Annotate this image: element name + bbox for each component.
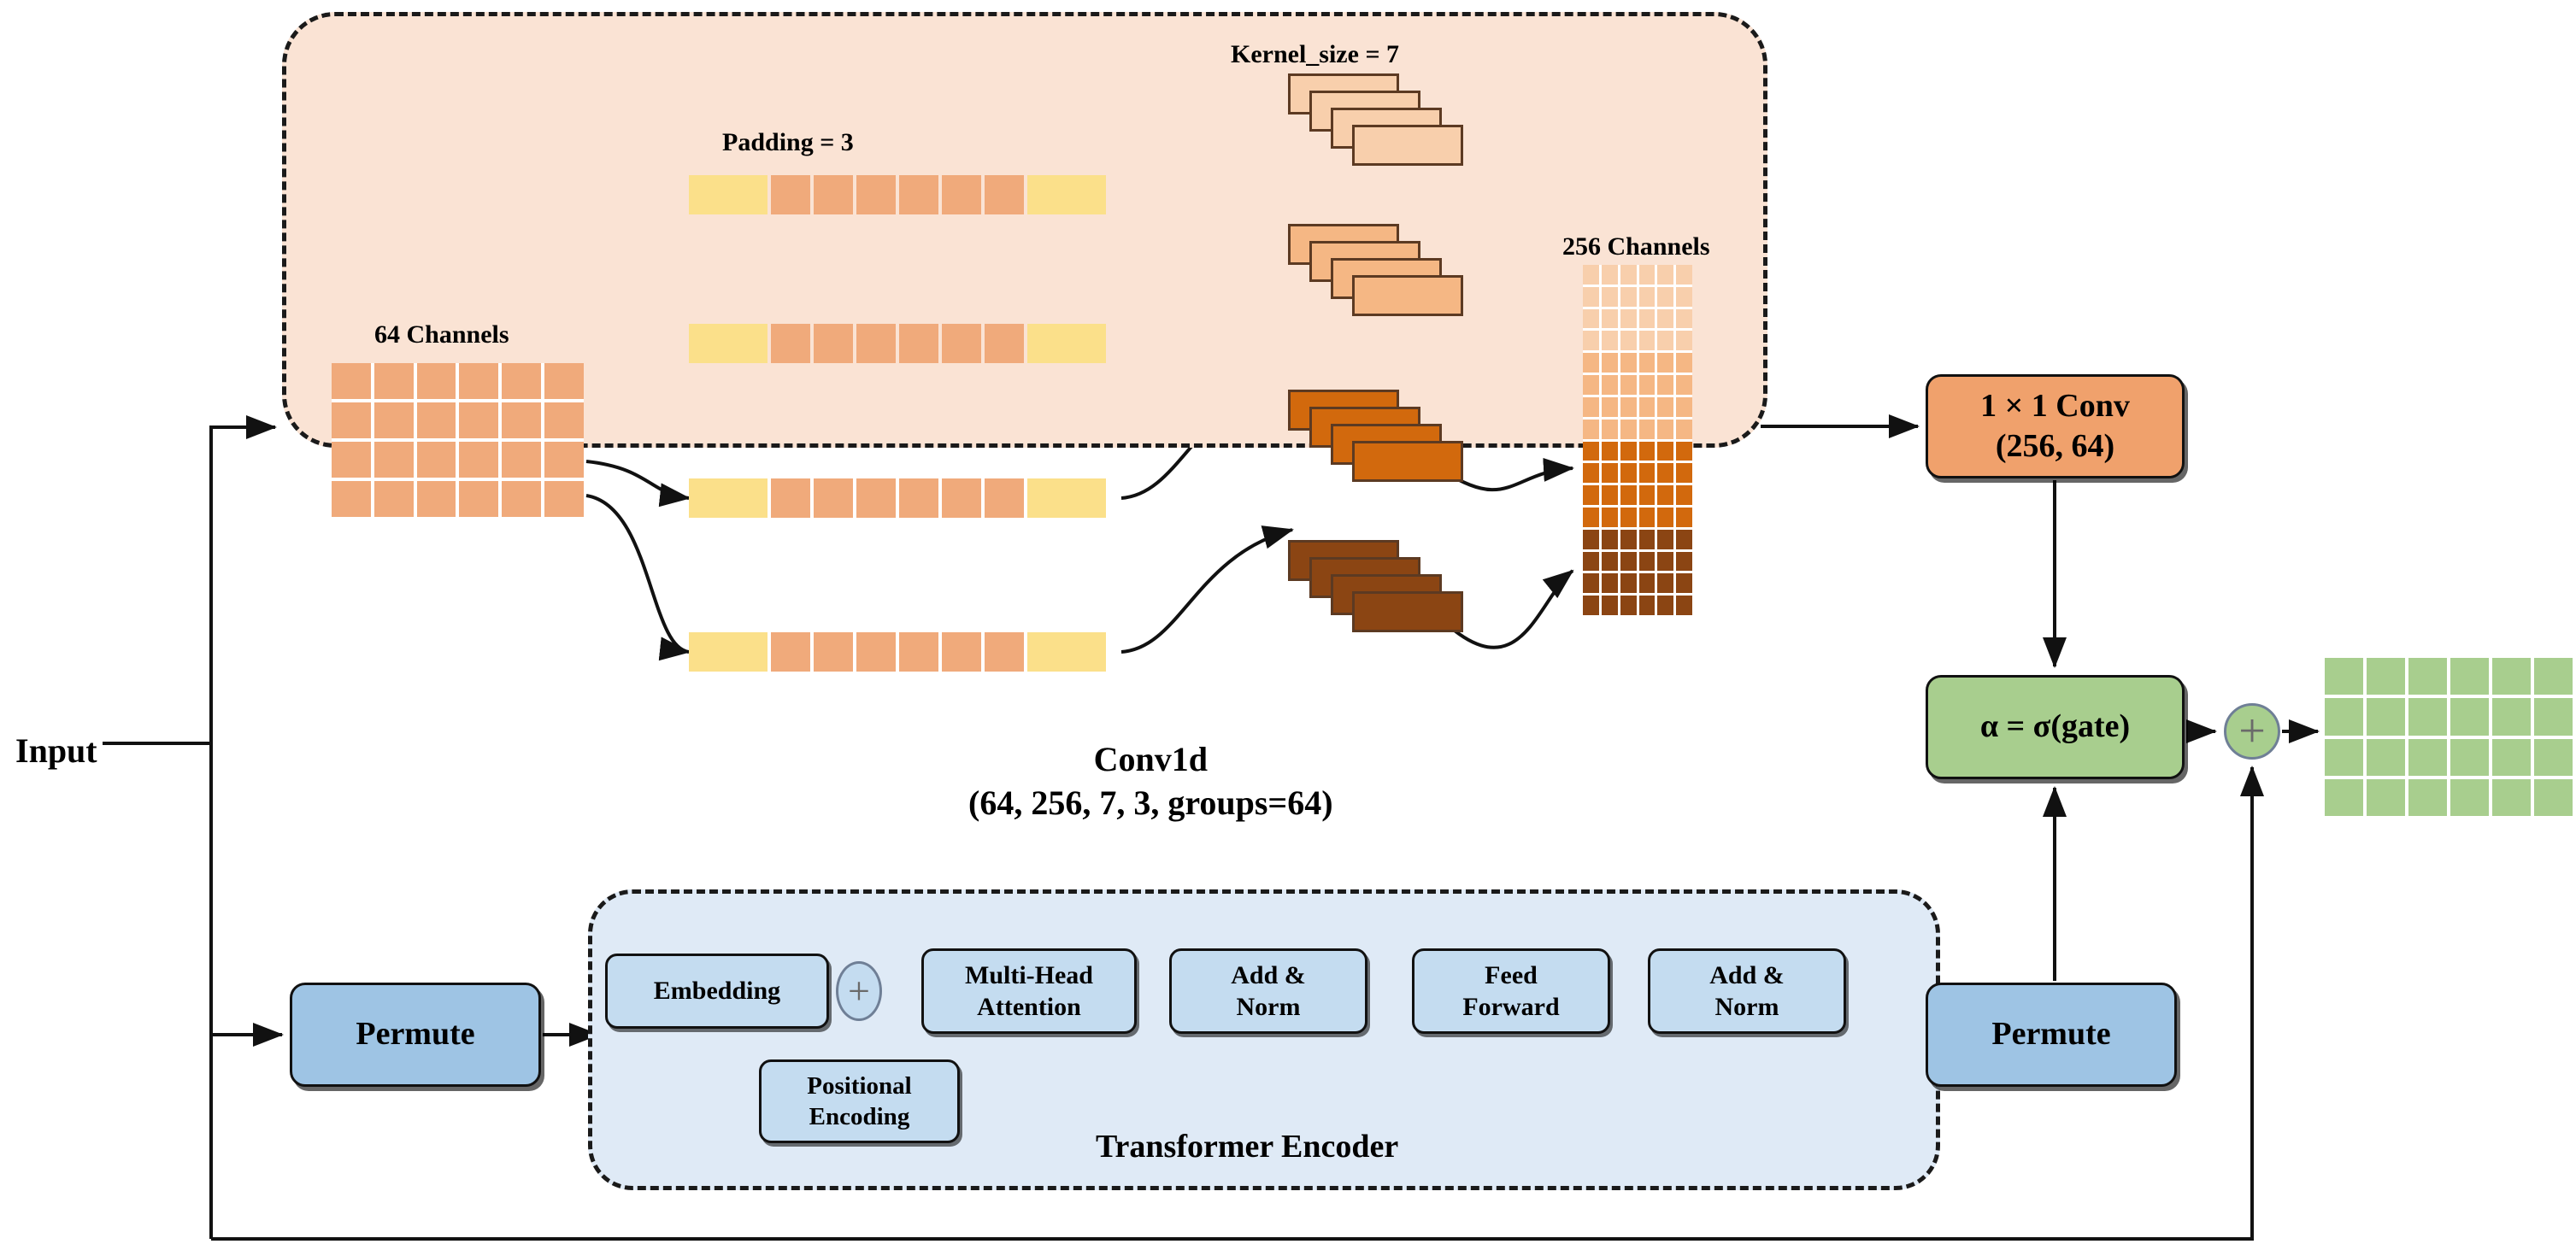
grid-cell: [1657, 463, 1673, 483]
feature-cell: [942, 632, 981, 672]
output-channels-label: 256 Channels: [1562, 232, 1710, 261]
grid-cell: [2325, 779, 2363, 816]
grid-cell: [1676, 442, 1692, 461]
feature-cell: [814, 175, 853, 214]
grid-cell: [332, 442, 371, 478]
kernel-plane: [1352, 441, 1463, 482]
grid-cell: [2534, 698, 2573, 735]
grid-cell: [1639, 287, 1656, 307]
grid-cell: [1639, 463, 1656, 483]
grid-cell: [1602, 420, 1618, 439]
grid-cell: [1583, 397, 1599, 417]
feed-forward-line2: Forward: [1462, 993, 1559, 1021]
grid-cell: [2408, 698, 2447, 735]
padding-cell: [689, 324, 768, 363]
add-norm-1-line1: Add &: [1231, 961, 1306, 989]
grid-cell: [1639, 309, 1656, 329]
padded-strip: [689, 632, 1106, 672]
add-norm-1-line2: Norm: [1237, 993, 1301, 1021]
add-norm-box-1[interactable]: Add & Norm: [1169, 948, 1367, 1034]
grid-cell: [2534, 658, 2573, 695]
kernel-stack: [1288, 540, 1450, 634]
mha-line1: Multi-Head: [965, 961, 1093, 989]
feature-cell: [856, 175, 896, 214]
grid-cell: [374, 363, 414, 399]
grid-cell: [1676, 596, 1692, 615]
wire-grid-to-strip-4: [586, 496, 689, 652]
grid-cell: [502, 363, 541, 399]
grid-cell: [1602, 442, 1618, 461]
grid-cell: [1657, 552, 1673, 572]
feature-cell: [985, 324, 1024, 363]
embedding-box[interactable]: Embedding: [605, 954, 829, 1029]
grid-cell: [417, 442, 456, 478]
grid-cell: [1602, 573, 1618, 593]
grid-cell: [1639, 552, 1656, 572]
feature-cell: [856, 324, 896, 363]
feature-cell: [899, 632, 938, 672]
grid-cell: [1657, 573, 1673, 593]
grid-cell: [1583, 573, 1599, 593]
grid-cell: [1620, 463, 1637, 483]
grid-cell: [2408, 739, 2447, 776]
grid-cell: [1602, 463, 1618, 483]
grid-cell: [1602, 331, 1618, 350]
grid-cell: [1620, 485, 1637, 505]
feature-cell: [814, 632, 853, 672]
grid-cell: [1657, 309, 1673, 329]
grid-cell: [1620, 353, 1637, 373]
grid-cell: [2492, 739, 2531, 776]
grid-cell: [1639, 397, 1656, 417]
grid-cell: [1657, 508, 1673, 527]
feature-cell: [771, 632, 810, 672]
grid-cell: [1657, 353, 1673, 373]
grid-cell: [1676, 573, 1692, 593]
gate-formula: α = σ(gate): [1980, 707, 2130, 748]
permute-in-box[interactable]: Permute: [290, 983, 541, 1087]
grid-cell: [1639, 485, 1656, 505]
grid-cell: [1639, 508, 1656, 527]
grid-cell: [502, 481, 541, 517]
grid-cell: [1676, 552, 1692, 572]
grid-cell: [2367, 658, 2405, 695]
feed-forward-box[interactable]: Feed Forward: [1412, 948, 1610, 1034]
padded-strip: [689, 324, 1106, 363]
grid-cell: [459, 442, 498, 478]
grid-cell: [459, 402, 498, 438]
output-feature-grid: [1583, 265, 1692, 615]
permute-in-label: Permute: [356, 1014, 474, 1055]
grid-cell: [1583, 552, 1599, 572]
grid-cell: [2367, 698, 2405, 735]
grid-cell: [2492, 779, 2531, 816]
grid-cell: [502, 402, 541, 438]
wire-kernel-to-256-4: [1444, 571, 1573, 648]
grid-cell: [1620, 552, 1637, 572]
wire-input-to-conv: [211, 427, 275, 743]
grid-cell: [1620, 265, 1637, 285]
conv1d-caption-line1: Conv1d: [968, 737, 1333, 781]
pointwise-conv-box[interactable]: 1 × 1 Conv (256, 64): [1926, 374, 2185, 478]
feature-cell: [771, 175, 810, 214]
kernel-plane: [1352, 591, 1463, 632]
wire-grid-to-strip-3: [586, 461, 689, 498]
grid-cell: [1602, 309, 1618, 329]
grid-cell: [1639, 331, 1656, 350]
grid-cell: [1602, 508, 1618, 527]
grid-cell: [2450, 658, 2489, 695]
grid-cell: [1657, 530, 1673, 549]
grid-cell: [1583, 442, 1599, 461]
grid-cell: [1657, 331, 1673, 350]
grid-cell: [2325, 698, 2363, 735]
padding-cell: [689, 632, 768, 672]
kernel-size-label: Kernel_size = 7: [1231, 40, 1399, 69]
grid-cell: [459, 363, 498, 399]
grid-cell: [459, 481, 498, 517]
kernel-stack: [1288, 224, 1450, 318]
grid-cell: [374, 481, 414, 517]
grid-cell: [1583, 485, 1599, 505]
grid-cell: [332, 363, 371, 399]
input-feature-grid: [332, 363, 584, 517]
grid-cell: [2492, 698, 2531, 735]
diagram-canvas: 64 Channels Padding = 3 Kernel_size = 7 …: [0, 0, 2576, 1250]
grid-cell: [1657, 287, 1673, 307]
kernel-plane: [1352, 275, 1463, 316]
grid-cell: [544, 363, 584, 399]
conv1d-caption-line2: (64, 256, 7, 3, groups=64): [968, 781, 1333, 825]
grid-cell: [1620, 442, 1637, 461]
grid-cell: [1657, 442, 1673, 461]
padding-label: Padding = 3: [722, 128, 854, 157]
grid-cell: [417, 402, 456, 438]
grid-cell: [1676, 331, 1692, 350]
grid-cell: [2408, 658, 2447, 695]
grid-cell: [2450, 739, 2489, 776]
grid-cell: [1620, 508, 1637, 527]
grid-cell: [2534, 779, 2573, 816]
grid-cell: [1639, 442, 1656, 461]
grid-cell: [1676, 485, 1692, 505]
mha-line2: Attention: [977, 993, 1081, 1021]
grid-cell: [2450, 779, 2489, 816]
pointwise-conv-line1: 1 × 1 Conv: [1980, 388, 2130, 424]
padded-strip: [689, 478, 1106, 518]
grid-cell: [1620, 375, 1637, 395]
padding-cell: [689, 175, 768, 214]
feature-cell: [985, 478, 1024, 518]
plus-icon: +: [848, 971, 870, 1011]
grid-cell: [1676, 265, 1692, 285]
padded-strip: [689, 175, 1106, 214]
grid-cell: [1620, 309, 1637, 329]
feature-cell: [814, 478, 853, 518]
grid-cell: [1602, 353, 1618, 373]
pointwise-conv-line2: (256, 64): [1996, 428, 2114, 464]
padding-cell: [689, 478, 768, 518]
residual-add-node: +: [2224, 703, 2280, 760]
add-norm-box-2[interactable]: Add & Norm: [1648, 948, 1846, 1034]
kernel-stack: [1288, 73, 1450, 167]
grid-cell: [1657, 375, 1673, 395]
grid-cell: [1657, 596, 1673, 615]
grid-cell: [1583, 530, 1599, 549]
feature-cell: [856, 632, 896, 672]
grid-cell: [374, 402, 414, 438]
grid-cell: [1620, 420, 1637, 439]
feature-cell: [942, 175, 981, 214]
feature-cell: [942, 478, 981, 518]
grid-cell: [1639, 420, 1656, 439]
grid-cell: [1602, 530, 1618, 549]
padding-cell: [1027, 324, 1106, 363]
grid-cell: [2408, 779, 2447, 816]
grid-cell: [1583, 420, 1599, 439]
permute-out-label: Permute: [1991, 1014, 2110, 1055]
grid-cell: [1620, 530, 1637, 549]
grid-cell: [1583, 375, 1599, 395]
grid-cell: [1639, 353, 1656, 373]
permute-out-box[interactable]: Permute: [1926, 983, 2177, 1087]
conv1d-caption: Conv1d (64, 256, 7, 3, groups=64): [968, 737, 1333, 825]
grid-cell: [1657, 420, 1673, 439]
input-channels-label: 64 Channels: [374, 320, 509, 349]
add-norm-2-line1: Add &: [1709, 961, 1785, 989]
grid-cell: [2367, 779, 2405, 816]
padding-cell: [1027, 175, 1106, 214]
grid-cell: [2450, 698, 2489, 735]
padding-cell: [1027, 632, 1106, 672]
grid-cell: [1676, 397, 1692, 417]
feature-cell: [985, 632, 1024, 672]
embedding-label: Embedding: [654, 975, 780, 1007]
feature-cell: [771, 478, 810, 518]
grid-cell: [1676, 420, 1692, 439]
grid-cell: [1620, 573, 1637, 593]
grid-cell: [1583, 287, 1599, 307]
positional-encoding-line2: Encoding: [809, 1103, 910, 1130]
grid-cell: [1639, 573, 1656, 593]
grid-cell: [1676, 508, 1692, 527]
grid-cell: [332, 402, 371, 438]
grid-cell: [544, 481, 584, 517]
feature-cell: [899, 324, 938, 363]
grid-cell: [1639, 265, 1656, 285]
grid-cell: [1676, 309, 1692, 329]
grid-cell: [1602, 375, 1618, 395]
grid-cell: [1583, 331, 1599, 350]
grid-cell: [1676, 530, 1692, 549]
grid-cell: [1602, 552, 1618, 572]
grid-cell: [2534, 739, 2573, 776]
wire-strip-to-kernel-4: [1121, 530, 1292, 652]
grid-cell: [1583, 596, 1599, 615]
grid-cell: [1639, 596, 1656, 615]
grid-cell: [1583, 309, 1599, 329]
add-norm-2-line2: Norm: [1715, 993, 1779, 1021]
grid-cell: [1602, 397, 1618, 417]
grid-cell: [417, 363, 456, 399]
feature-cell: [985, 175, 1024, 214]
grid-cell: [544, 402, 584, 438]
grid-cell: [1583, 353, 1599, 373]
kernel-stack: [1288, 390, 1450, 484]
grid-cell: [1676, 375, 1692, 395]
grid-cell: [2325, 739, 2363, 776]
feature-cell: [856, 478, 896, 518]
positional-encoding-line1: Positional: [807, 1072, 911, 1100]
grid-cell: [1583, 508, 1599, 527]
grid-cell: [1620, 331, 1637, 350]
grid-cell: [374, 442, 414, 478]
grid-cell: [2367, 739, 2405, 776]
grid-cell: [1657, 265, 1673, 285]
feature-cell: [942, 324, 981, 363]
grid-cell: [1620, 287, 1637, 307]
grid-cell: [2325, 658, 2363, 695]
positional-add-node: +: [836, 961, 882, 1021]
gate-box[interactable]: α = σ(gate): [1926, 675, 2185, 779]
grid-cell: [1657, 397, 1673, 417]
grid-cell: [1639, 375, 1656, 395]
grid-cell: [1676, 353, 1692, 373]
transformer-encoder-caption: Transformer Encoder: [1096, 1128, 1398, 1165]
grid-cell: [1583, 265, 1599, 285]
grid-cell: [1583, 463, 1599, 483]
feature-cell: [814, 324, 853, 363]
grid-cell: [502, 442, 541, 478]
padding-cell: [1027, 478, 1106, 518]
plus-icon: +: [2238, 707, 2266, 755]
grid-cell: [417, 481, 456, 517]
grid-cell: [1676, 287, 1692, 307]
grid-cell: [1620, 596, 1637, 615]
grid-cell: [332, 481, 371, 517]
multi-head-attention-box[interactable]: Multi-Head Attention: [921, 948, 1137, 1034]
feed-forward-line1: Feed: [1485, 961, 1538, 989]
wire-kernel-to-256-3: [1444, 468, 1573, 490]
grid-cell: [1602, 265, 1618, 285]
grid-cell: [1620, 397, 1637, 417]
positional-encoding-box[interactable]: Positional Encoding: [759, 1059, 960, 1143]
output-grid: [2325, 658, 2573, 816]
grid-cell: [1602, 485, 1618, 505]
kernel-plane: [1352, 125, 1463, 166]
feature-cell: [771, 324, 810, 363]
grid-cell: [1676, 463, 1692, 483]
feature-cell: [899, 175, 938, 214]
feature-cell: [899, 478, 938, 518]
input-label: Input: [15, 731, 97, 771]
grid-cell: [544, 442, 584, 478]
grid-cell: [1657, 485, 1673, 505]
grid-cell: [2492, 658, 2531, 695]
grid-cell: [1639, 530, 1656, 549]
grid-cell: [1602, 596, 1618, 615]
grid-cell: [1602, 287, 1618, 307]
